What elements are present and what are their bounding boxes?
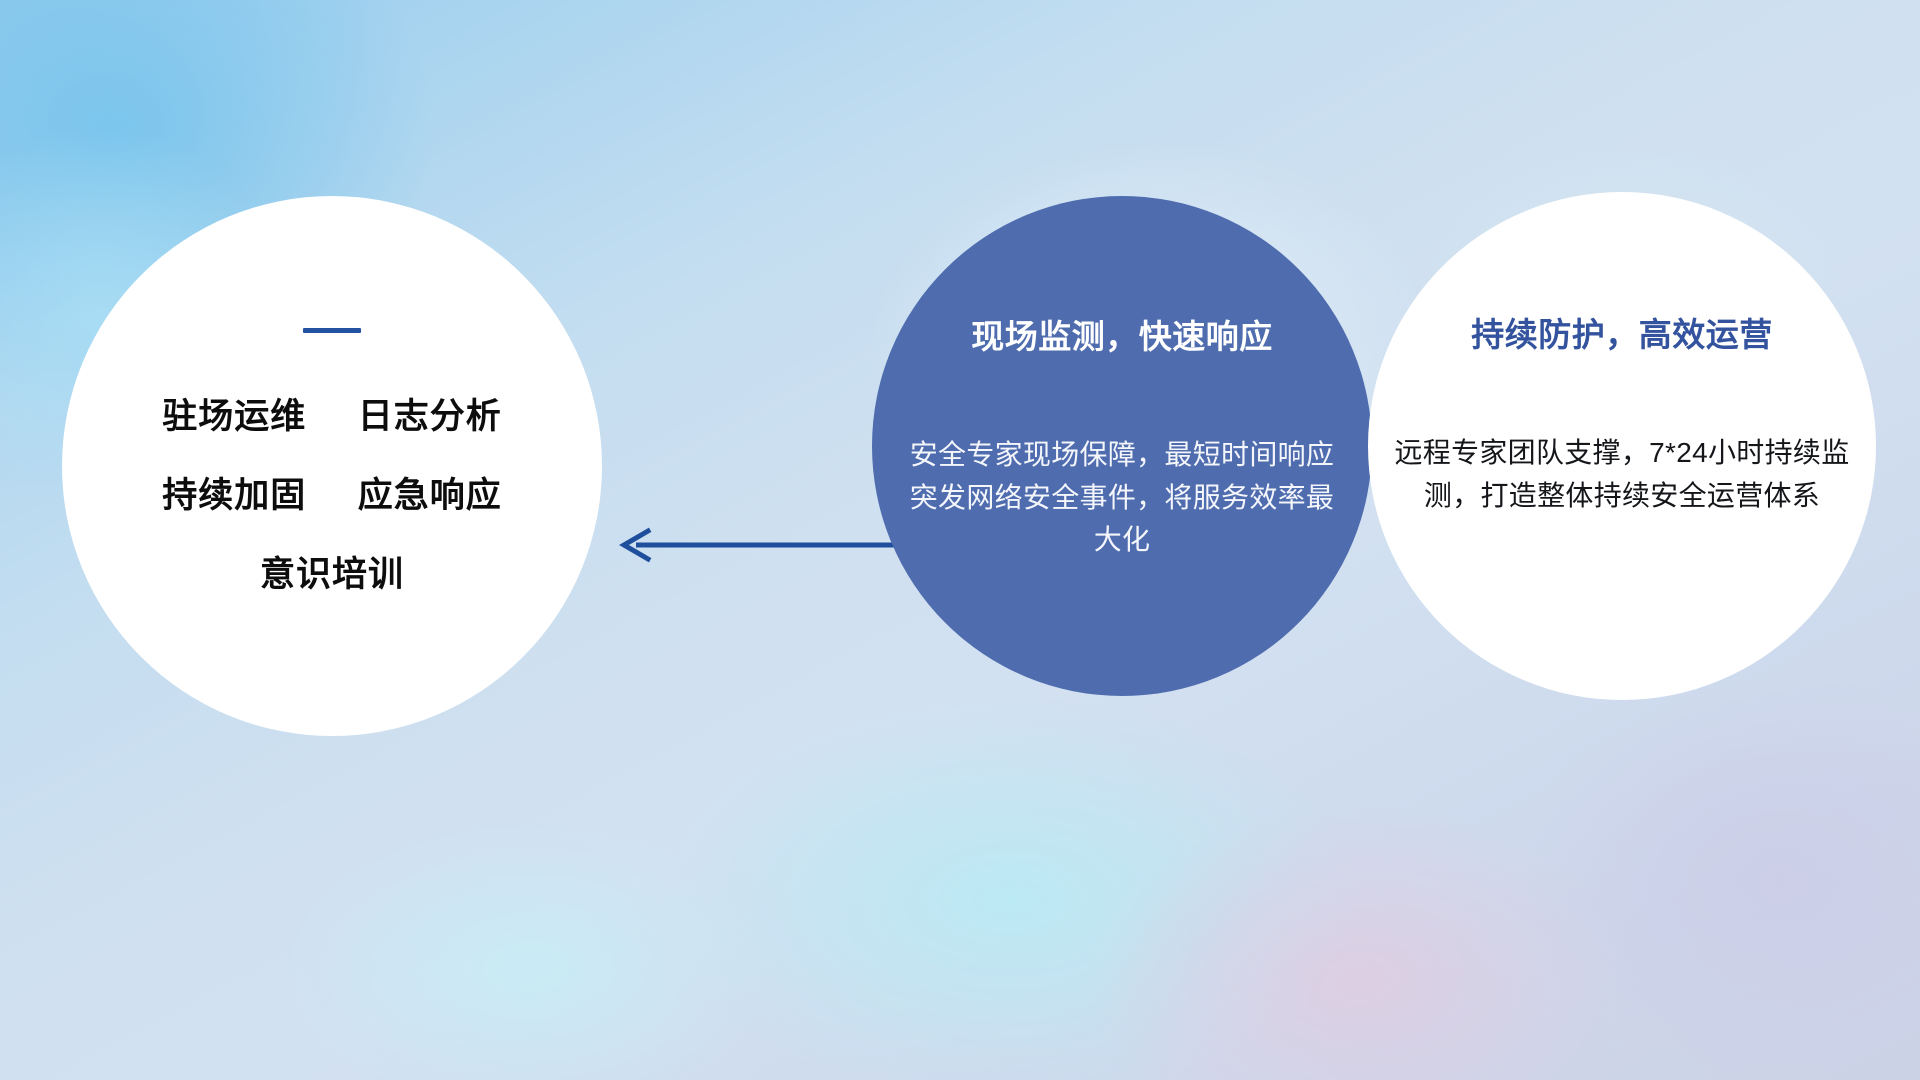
slide-canvas: 驻场运维 日志分析 持续加固 应急响应 意识培训 现场监测，快速响应 安全专家现… xyxy=(0,0,1920,1080)
onsite-monitoring-circle[interactable]: 现场监测，快速响应 安全专家现场保障，最短时间响应突发网络安全事件，将服务效率最… xyxy=(872,196,1372,696)
continuous-protection-body: 远程专家团队支撑，7*24小时持续监测，打造整体持续安全运营体系 xyxy=(1368,432,1876,517)
onsite-monitoring-content: 现场监测，快速响应 安全专家现场保障，最短时间响应突发网络安全事件，将服务效率最… xyxy=(872,310,1372,562)
capability-label-onsite-ops: 驻场运维 xyxy=(162,397,306,436)
capabilities-circle[interactable]: 驻场运维 日志分析 持续加固 应急响应 意识培训 xyxy=(62,196,602,736)
onsite-monitoring-body: 安全专家现场保障，最短时间响应突发网络安全事件，将服务效率最大化 xyxy=(880,434,1364,562)
capability-row-3: 意识培训 xyxy=(62,557,602,592)
capability-row-2: 持续加固 应急响应 xyxy=(62,478,602,513)
capabilities-content: 驻场运维 日志分析 持续加固 应急响应 意识培训 xyxy=(62,328,602,592)
capability-label-emergency-response: 应急响应 xyxy=(358,476,502,515)
continuous-protection-title: 持续防护，高效运营 xyxy=(1368,308,1876,356)
continuous-protection-content: 持续防护，高效运营 远程专家团队支撑，7*24小时持续监测，打造整体持续安全运营… xyxy=(1368,308,1876,517)
capability-label-awareness-training: 意识培训 xyxy=(260,555,404,594)
divider-dash-icon xyxy=(303,328,361,333)
capability-label-continuous-hardening: 持续加固 xyxy=(162,476,306,515)
flow-arrow-left xyxy=(600,520,900,570)
onsite-monitoring-title: 现场监测，快速响应 xyxy=(880,310,1364,358)
capability-label-log-analysis: 日志分析 xyxy=(358,397,502,436)
continuous-protection-circle[interactable]: 持续防护，高效运营 远程专家团队支撑，7*24小时持续监测，打造整体持续安全运营… xyxy=(1368,192,1876,700)
capability-row-1: 驻场运维 日志分析 xyxy=(62,399,602,434)
